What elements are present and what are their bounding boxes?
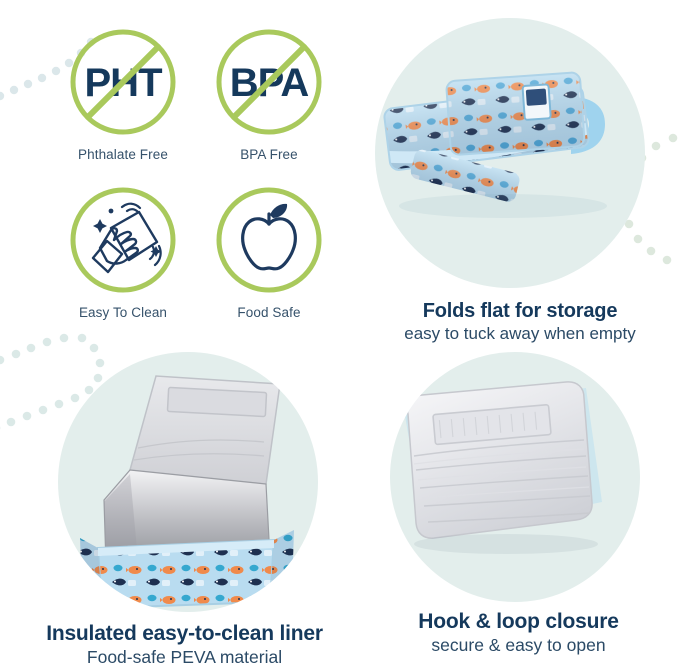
no-bpa-icon: BPA [213, 26, 325, 138]
feature-caption: Insulated easy-to-clean liner Food-safe … [16, 622, 353, 668]
badge-label: Easy To Clean [79, 305, 167, 320]
feature-folds-flat: Folds flat for storage easy to tuck away… [349, 18, 679, 344]
badge-label: BPA Free [240, 147, 298, 162]
badge-label: Food Safe [237, 305, 300, 320]
feature-hook-and-loop: Hook & loop closure secure & easy to ope… [352, 352, 679, 656]
hook-and-loop-flap-photo [390, 352, 640, 602]
feature-caption: Hook & loop closure secure & easy to ope… [358, 610, 679, 656]
feature-title: Folds flat for storage [361, 300, 679, 323]
badge-label: Phthalate Free [78, 147, 168, 162]
badge-food-safe: Food Safe [202, 184, 336, 342]
folded-lunch-bag-photo [375, 18, 645, 288]
no-phthalate-icon: PHT [67, 26, 179, 138]
feature-title: Hook & loop closure [358, 610, 679, 634]
wiping-hand-icon [67, 184, 179, 296]
badge-easy-to-clean: Easy To Clean [56, 184, 190, 342]
feature-subtitle: secure & easy to open [358, 635, 679, 656]
feature-insulated-liner: Insulated easy-to-clean liner Food-safe … [8, 352, 353, 668]
badge-phthalate-free: PHT Phthalate Free [56, 26, 190, 184]
badge-bpa-free: BPA BPA Free [202, 26, 336, 184]
feature-caption: Folds flat for storage easy to tuck away… [361, 300, 679, 344]
feature-title: Insulated easy-to-clean liner [16, 622, 353, 646]
open-lunch-bag-liner-photo [58, 352, 318, 612]
apple-icon [213, 184, 325, 296]
feature-subtitle: easy to tuck away when empty [361, 324, 679, 344]
certification-badge-grid: PHT Phthalate Free BPA BPA Free [56, 26, 336, 342]
product-infographic: PHT Phthalate Free BPA BPA Free [0, 0, 679, 658]
